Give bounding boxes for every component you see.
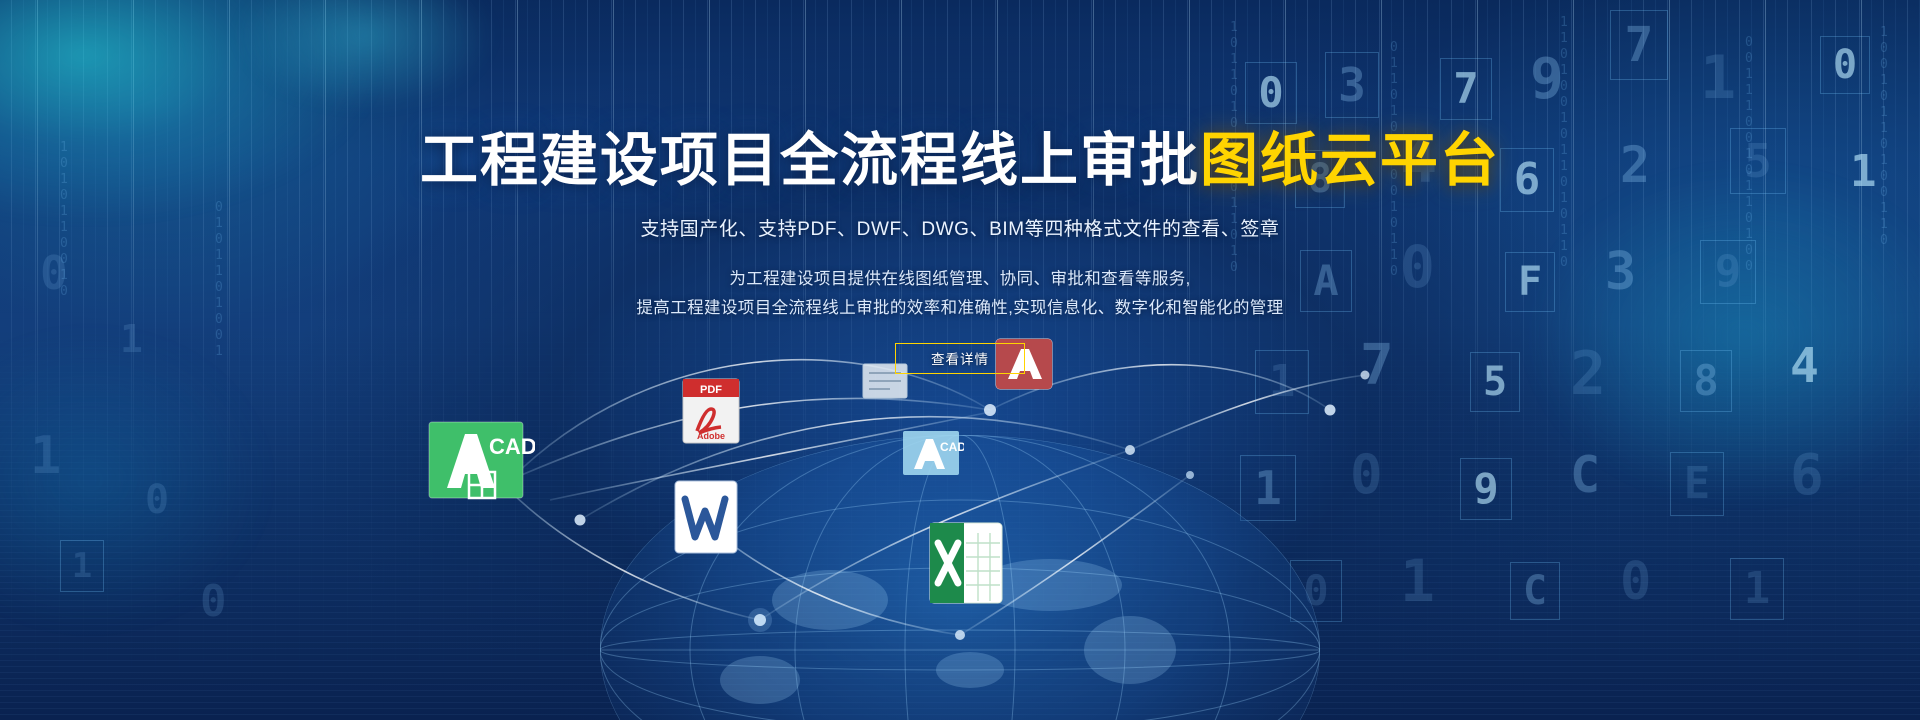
network-globe-graphic: CAD PDF Adobe [430,350,1490,720]
svg-text:CAD: CAD [940,440,964,454]
svg-text:PDF: PDF [700,384,722,396]
blue-glow-bottom-left [0,330,270,630]
hero-description-line-1: 为工程建设项目提供在线图纸管理、协同、审批和查看等服务, [0,265,1920,294]
dwg-icon: CAD [900,425,964,483]
autocad-icon: CAD [425,410,535,510]
title-white-part: 工程建设项目全流程线上审批 [420,128,1200,193]
digit-glyph: C [1510,562,1560,620]
page-title: 工程建设项目全流程线上审批图纸云平台 [0,129,1920,194]
cta-row: 查看详情 [0,343,1920,374]
hero-subtitle: 支持国产化、支持PDF、DWF、DWG、BIM等四种格式文件的查看、签章 [0,214,1920,241]
title-highlight-part: 图纸云平台 [1200,128,1500,193]
hero-content: 工程建设项目全流程线上审批图纸云平台 支持国产化、支持PDF、DWF、DWG、B… [0,0,1920,374]
view-details-button[interactable]: 查看详情 [895,343,1025,374]
svg-text:Adobe: Adobe [697,431,725,441]
digit-glyph: 1 [1730,558,1784,620]
pdf-icon: PDF Adobe [675,375,749,449]
word-icon [665,475,751,561]
digit-glyph: 0 [1620,556,1651,608]
hero-description-line-2: 提高工程建设项目全流程线上审批的效率和准确性,实现信息化、数字化和智能化的管理 [0,294,1920,323]
hero-description: 为工程建设项目提供在线图纸管理、协同、审批和查看等服务, 提高工程建设项目全流程… [0,265,1920,323]
hero-banner: 0 3 7 9 7 1 0 8 4 6 2 5 1 A 0 F 3 9 1 7 … [0,0,1920,720]
svg-text:CAD: CAD [489,434,535,459]
excel-icon [920,515,1016,611]
